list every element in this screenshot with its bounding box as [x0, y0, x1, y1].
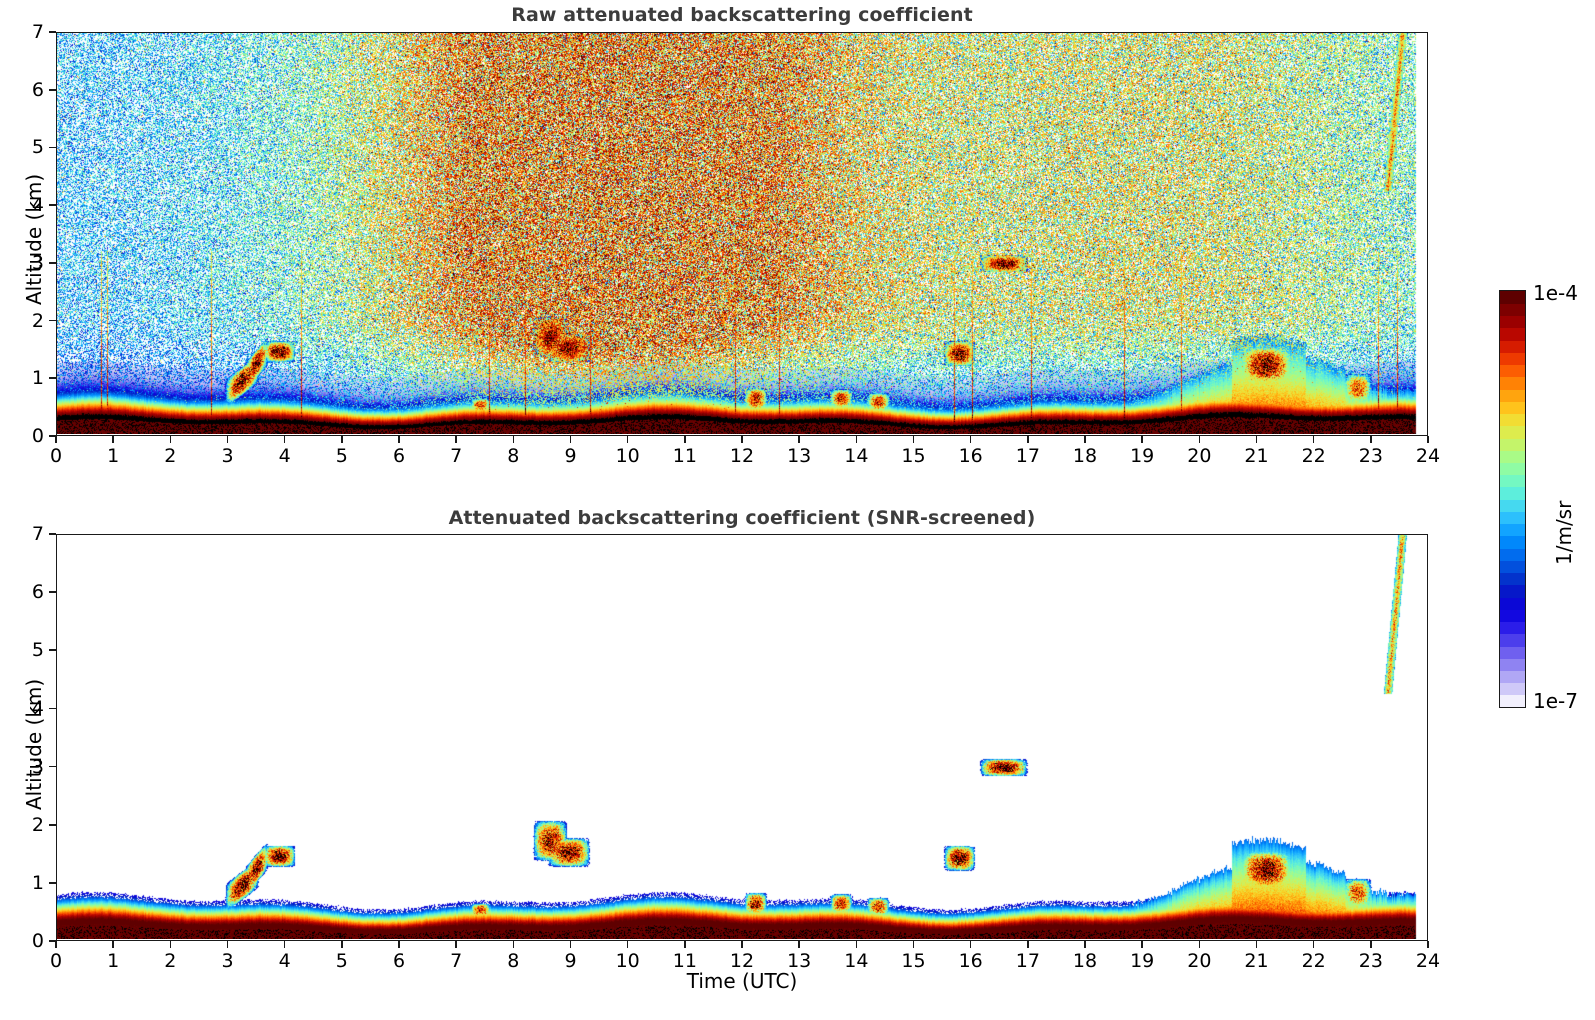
x-tick-scr-14: [856, 941, 858, 948]
y-tick-label-scr-2: 2: [14, 814, 44, 836]
colorbar-band: [1500, 487, 1525, 500]
plot-area-screened[interactable]: [56, 534, 1428, 941]
x-tick-scr-19: [1141, 941, 1143, 948]
x-tick-label-raw-24: 24: [1416, 445, 1440, 467]
y-tick-label-scr-5: 5: [14, 639, 44, 661]
x-tick-label-raw-15: 15: [901, 445, 925, 467]
colorbar-band: [1500, 377, 1525, 390]
x-axis-label-time: Time (UTC): [0, 969, 1484, 993]
x-tick-label-raw-5: 5: [336, 445, 348, 467]
x-tick-label-raw-22: 22: [1302, 445, 1326, 467]
colorbar-band: [1500, 352, 1525, 365]
x-tick-scr-13: [798, 941, 800, 948]
x-tick-label-scr-20: 20: [1187, 950, 1211, 972]
colorbar-band: [1500, 560, 1525, 573]
colorbar-band: [1500, 683, 1525, 696]
x-tick-label-raw-11: 11: [673, 445, 697, 467]
y-tick-scr-1: [49, 882, 56, 884]
y-tick-raw-4: [49, 204, 56, 206]
x-tick-scr-12: [741, 941, 743, 948]
x-tick-label-raw-21: 21: [1244, 445, 1268, 467]
colorbar-band: [1500, 634, 1525, 647]
x-tick-label-raw-1: 1: [107, 445, 119, 467]
y-tick-raw-3: [49, 262, 56, 264]
x-tick-raw-9: [570, 436, 572, 443]
x-tick-raw-14: [856, 436, 858, 443]
y-tick-label-scr-6: 6: [14, 581, 44, 603]
x-tick-label-raw-3: 3: [221, 445, 233, 467]
colorbar-band: [1500, 523, 1525, 536]
x-tick-scr-22: [1313, 941, 1315, 948]
x-tick-raw-23: [1370, 436, 1372, 443]
x-tick-raw-10: [627, 436, 629, 443]
colorbar-band: [1500, 609, 1525, 622]
y-tick-label-raw-2: 2: [14, 310, 44, 332]
y-tick-label-raw-6: 6: [14, 79, 44, 101]
x-tick-label-raw-4: 4: [279, 445, 291, 467]
colorbar-band: [1500, 426, 1525, 439]
x-tick-scr-2: [170, 941, 172, 948]
x-tick-label-scr-7: 7: [450, 950, 462, 972]
x-tick-label-scr-22: 22: [1302, 950, 1326, 972]
y-tick-label-raw-5: 5: [14, 136, 44, 158]
colorbar-band: [1500, 548, 1525, 561]
x-tick-scr-17: [1027, 941, 1029, 948]
colorbar-band: [1500, 597, 1525, 610]
x-tick-label-scr-1: 1: [107, 950, 119, 972]
x-tick-raw-3: [227, 436, 229, 443]
x-tick-raw-22: [1313, 436, 1315, 443]
x-tick-raw-2: [170, 436, 172, 443]
y-tick-scr-2: [49, 824, 56, 826]
colorbar-band: [1500, 364, 1525, 377]
colorbar-band: [1500, 303, 1525, 316]
x-tick-raw-24: [1427, 436, 1429, 443]
x-tick-label-scr-24: 24: [1416, 950, 1440, 972]
x-tick-label-scr-15: 15: [901, 950, 925, 972]
x-tick-scr-3: [227, 941, 229, 948]
x-tick-label-scr-3: 3: [221, 950, 233, 972]
x-tick-label-scr-18: 18: [1073, 950, 1097, 972]
colorbar-band: [1500, 328, 1525, 341]
x-tick-scr-9: [570, 941, 572, 948]
x-tick-label-raw-13: 13: [787, 445, 811, 467]
x-tick-scr-10: [627, 941, 629, 948]
x-tick-scr-0: [55, 941, 57, 948]
colorbar-band: [1500, 585, 1525, 598]
x-tick-scr-11: [684, 941, 686, 948]
x-tick-label-scr-14: 14: [844, 950, 868, 972]
colorbar-band: [1500, 695, 1525, 708]
x-tick-scr-8: [513, 941, 515, 948]
y-tick-raw-0: [49, 435, 56, 437]
x-tick-scr-18: [1084, 941, 1086, 948]
x-tick-scr-7: [455, 941, 457, 948]
x-tick-label-raw-12: 12: [730, 445, 754, 467]
x-tick-label-raw-8: 8: [507, 445, 519, 467]
x-tick-label-scr-6: 6: [393, 950, 405, 972]
x-tick-label-scr-21: 21: [1244, 950, 1268, 972]
panel-title-screened: Attenuated backscattering coefficient (S…: [0, 507, 1484, 529]
colorbar-band: [1500, 291, 1525, 304]
colorbar-band: [1500, 340, 1525, 353]
x-tick-label-raw-17: 17: [1016, 445, 1040, 467]
x-tick-label-raw-16: 16: [959, 445, 983, 467]
y-tick-scr-3: [49, 766, 56, 768]
x-tick-scr-1: [112, 941, 114, 948]
colorbar-band: [1500, 572, 1525, 585]
panel-title-raw: Raw attenuated backscattering coefficien…: [0, 4, 1484, 26]
colorbar-min-label: 1e-7: [1533, 689, 1578, 713]
x-tick-label-scr-13: 13: [787, 950, 811, 972]
x-tick-raw-16: [970, 436, 972, 443]
x-tick-label-raw-23: 23: [1359, 445, 1383, 467]
y-tick-label-raw-4: 4: [14, 194, 44, 216]
y-tick-label-raw-0: 0: [14, 425, 44, 447]
colorbar: [1499, 290, 1526, 708]
x-tick-scr-20: [1199, 941, 1201, 948]
colorbar-band: [1500, 315, 1525, 328]
colorbar-band: [1500, 438, 1525, 451]
y-tick-scr-7: [49, 533, 56, 535]
x-tick-scr-21: [1256, 941, 1258, 948]
x-tick-label-raw-7: 7: [450, 445, 462, 467]
colorbar-band: [1500, 646, 1525, 659]
colorbar-band: [1500, 401, 1525, 414]
x-tick-raw-7: [455, 436, 457, 443]
x-tick-raw-18: [1084, 436, 1086, 443]
x-tick-label-raw-0: 0: [50, 445, 62, 467]
x-tick-label-scr-16: 16: [959, 950, 983, 972]
colorbar-band: [1500, 536, 1525, 549]
x-tick-label-raw-18: 18: [1073, 445, 1097, 467]
x-tick-label-scr-12: 12: [730, 950, 754, 972]
x-tick-raw-13: [798, 436, 800, 443]
x-tick-label-scr-5: 5: [336, 950, 348, 972]
x-tick-label-raw-10: 10: [616, 445, 640, 467]
y-tick-label-scr-4: 4: [14, 697, 44, 719]
x-tick-raw-0: [55, 436, 57, 443]
x-tick-label-raw-20: 20: [1187, 445, 1211, 467]
x-tick-label-raw-6: 6: [393, 445, 405, 467]
colorbar-band: [1500, 670, 1525, 683]
x-tick-label-scr-8: 8: [507, 950, 519, 972]
heatmap-raw: [57, 33, 1426, 434]
x-tick-label-raw-2: 2: [164, 445, 176, 467]
x-tick-label-raw-14: 14: [844, 445, 868, 467]
x-tick-scr-24: [1427, 941, 1429, 948]
x-tick-scr-4: [284, 941, 286, 948]
x-tick-label-scr-2: 2: [164, 950, 176, 972]
colorbar-band: [1500, 621, 1525, 634]
heatmap-screened: [57, 535, 1426, 939]
y-tick-raw-1: [49, 377, 56, 379]
y-tick-raw-7: [49, 31, 56, 33]
y-tick-label-raw-7: 7: [14, 21, 44, 43]
x-tick-raw-8: [513, 436, 515, 443]
colorbar-max-label: 1e-4: [1533, 281, 1578, 305]
colorbar-band: [1500, 462, 1525, 475]
x-tick-raw-17: [1027, 436, 1029, 443]
x-tick-raw-6: [398, 436, 400, 443]
x-tick-label-raw-9: 9: [564, 445, 576, 467]
x-tick-scr-15: [913, 941, 915, 948]
x-tick-label-scr-11: 11: [673, 950, 697, 972]
x-tick-label-scr-0: 0: [50, 950, 62, 972]
x-tick-raw-1: [112, 436, 114, 443]
colorbar-band: [1500, 658, 1525, 671]
x-tick-label-scr-4: 4: [279, 950, 291, 972]
y-tick-raw-5: [49, 147, 56, 149]
x-tick-label-scr-19: 19: [1130, 950, 1154, 972]
y-tick-label-scr-7: 7: [14, 523, 44, 545]
x-tick-label-raw-19: 19: [1130, 445, 1154, 467]
x-tick-scr-16: [970, 941, 972, 948]
colorbar-band: [1500, 450, 1525, 463]
colorbar-unit-label: 1/m/sr: [1552, 501, 1576, 565]
figure-canvas: Raw attenuated backscattering coefficien…: [0, 0, 1595, 1020]
x-tick-raw-21: [1256, 436, 1258, 443]
colorbar-band: [1500, 511, 1525, 524]
colorbar-band: [1500, 389, 1525, 402]
x-tick-raw-15: [913, 436, 915, 443]
y-tick-scr-4: [49, 708, 56, 710]
x-tick-raw-4: [284, 436, 286, 443]
x-tick-label-scr-9: 9: [564, 950, 576, 972]
x-tick-label-scr-23: 23: [1359, 950, 1383, 972]
x-tick-scr-23: [1370, 941, 1372, 948]
colorbar-band: [1500, 499, 1525, 512]
x-tick-raw-5: [341, 436, 343, 443]
y-tick-scr-6: [49, 591, 56, 593]
x-tick-label-scr-17: 17: [1016, 950, 1040, 972]
y-tick-label-raw-1: 1: [14, 367, 44, 389]
colorbar-band: [1500, 413, 1525, 426]
y-tick-label-raw-3: 3: [14, 252, 44, 274]
colorbar-band: [1500, 475, 1525, 488]
x-tick-raw-11: [684, 436, 686, 443]
x-tick-scr-5: [341, 941, 343, 948]
y-tick-raw-2: [49, 320, 56, 322]
y-tick-label-scr-3: 3: [14, 756, 44, 778]
y-tick-scr-0: [49, 940, 56, 942]
y-tick-label-scr-0: 0: [14, 930, 44, 952]
plot-area-raw[interactable]: [56, 32, 1428, 436]
x-tick-raw-19: [1141, 436, 1143, 443]
y-tick-label-scr-1: 1: [14, 872, 44, 894]
x-tick-label-scr-10: 10: [616, 950, 640, 972]
x-tick-scr-6: [398, 941, 400, 948]
y-tick-scr-5: [49, 649, 56, 651]
x-tick-raw-12: [741, 436, 743, 443]
y-tick-raw-6: [49, 89, 56, 91]
x-tick-raw-20: [1199, 436, 1201, 443]
